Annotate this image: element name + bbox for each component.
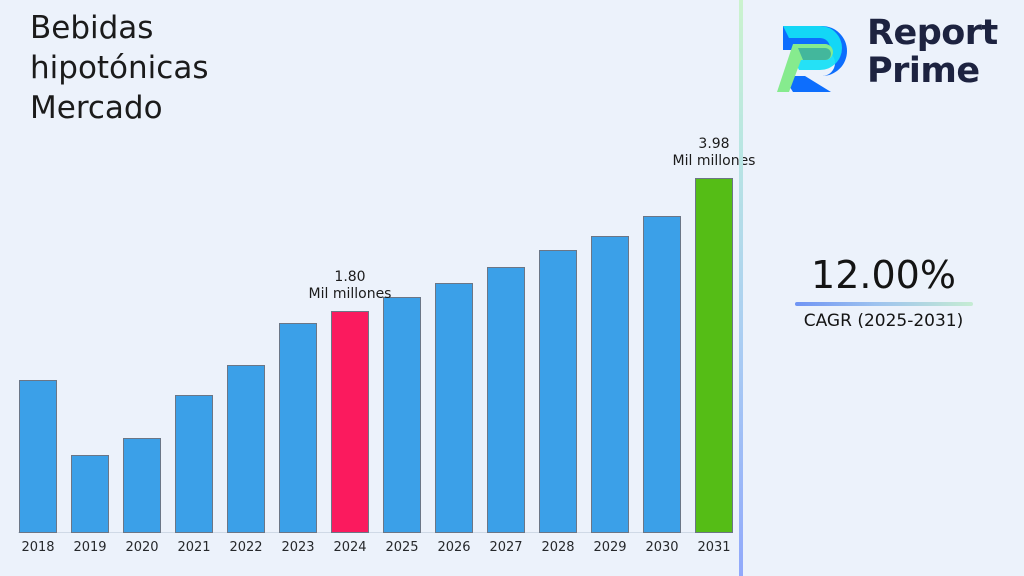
bar-2026[interactable] xyxy=(435,283,473,533)
x-axis-label-2022: 2022 xyxy=(220,540,272,555)
brand-logo-line1: Report xyxy=(867,14,998,52)
brand-logo-text: Report Prime xyxy=(867,14,998,90)
bar-group-2019[interactable] xyxy=(64,0,116,576)
bar-2023[interactable] xyxy=(279,323,317,533)
x-axis-label-2026: 2026 xyxy=(428,540,480,555)
bar-2028[interactable] xyxy=(539,250,577,533)
bar-group-2031[interactable] xyxy=(688,0,740,576)
x-axis-label-2028: 2028 xyxy=(532,540,584,555)
x-axis-label-2018: 2018 xyxy=(12,540,64,555)
bar-group-2026[interactable] xyxy=(428,0,480,576)
bar-2030[interactable] xyxy=(643,216,681,533)
bar-value-label-2024: 1.80 Mil millones xyxy=(275,269,425,303)
bar-group-2022[interactable] xyxy=(220,0,272,576)
cagr-block: 12.00% CAGR (2025-2031) xyxy=(743,252,1024,333)
x-axis-label-2024: 2024 xyxy=(324,540,376,555)
bar-group-2018[interactable] xyxy=(12,0,64,576)
cagr-divider-rule xyxy=(795,302,973,306)
bar-group-2020[interactable] xyxy=(116,0,168,576)
x-axis-label-2029: 2029 xyxy=(584,540,636,555)
bar-chart: 2018201920202021202220232024202520262027… xyxy=(0,0,740,576)
bar-2019[interactable] xyxy=(71,455,109,533)
right-panel: Report Prime 12.00% CAGR (2025-2031) xyxy=(743,0,1024,576)
x-axis-label-2019: 2019 xyxy=(64,540,116,555)
x-axis-label-2030: 2030 xyxy=(636,540,688,555)
x-axis-label-2027: 2027 xyxy=(480,540,532,555)
bar-2025[interactable] xyxy=(383,297,421,533)
bar-2027[interactable] xyxy=(487,267,525,533)
bar-group-2029[interactable] xyxy=(584,0,636,576)
bar-group-2028[interactable] xyxy=(532,0,584,576)
bar-2020[interactable] xyxy=(123,438,161,533)
bar-group-2030[interactable] xyxy=(636,0,688,576)
x-axis-label-2023: 2023 xyxy=(272,540,324,555)
cagr-label: CAGR (2025-2031) xyxy=(743,309,1024,333)
cagr-value: 12.00% xyxy=(743,252,1024,298)
chart-page: Bebidas hipotónicas Mercado 201820192020… xyxy=(0,0,1024,576)
bar-group-2021[interactable] xyxy=(168,0,220,576)
bar-2021[interactable] xyxy=(175,395,213,533)
brand-logo: Report Prime xyxy=(775,8,1015,100)
bar-2018[interactable] xyxy=(19,380,57,533)
x-axis-label-2025: 2025 xyxy=(376,540,428,555)
x-axis-label-2031: 2031 xyxy=(688,540,740,555)
bar-2022[interactable] xyxy=(227,365,265,533)
x-axis-label-2021: 2021 xyxy=(168,540,220,555)
x-axis-label-2020: 2020 xyxy=(116,540,168,555)
bar-group-2027[interactable] xyxy=(480,0,532,576)
brand-logo-line2: Prime xyxy=(867,52,998,90)
bar-2031[interactable] xyxy=(695,178,733,533)
bar-2024[interactable] xyxy=(331,311,369,533)
bar-2029[interactable] xyxy=(591,236,629,533)
report-prime-logo-icon xyxy=(775,14,859,98)
